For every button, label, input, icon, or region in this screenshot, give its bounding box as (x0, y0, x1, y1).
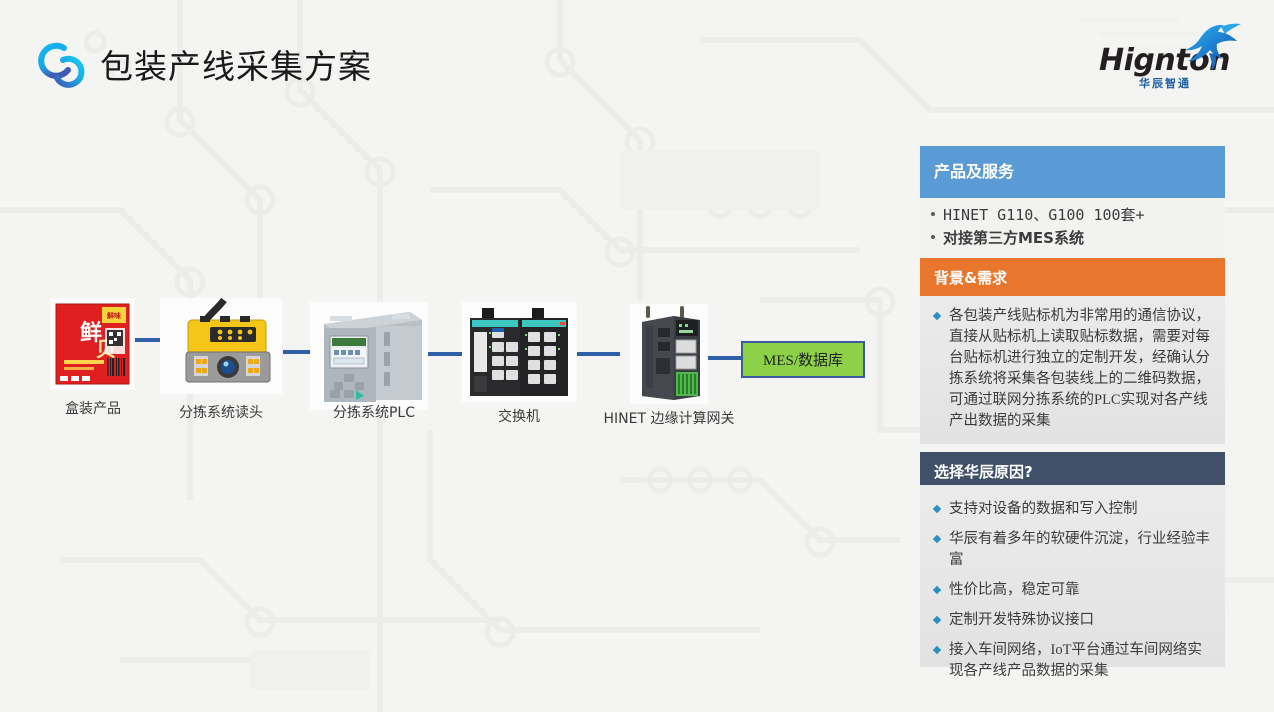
leaping-antelope-icon (1171, 23, 1245, 75)
architecture-diagram: 鲜味 鲜 贝 盒装产品 (0, 120, 900, 460)
brand-logo: Hignton 华辰智通 (1099, 25, 1239, 93)
page-title: 包装产线采集方案 (100, 40, 372, 88)
list-item-text: 性价比高，稳定可靠 (949, 580, 1215, 601)
connector-switch-to-gateway (574, 352, 620, 356)
node-sorting-plc: 分拣系统PLC (310, 302, 428, 410)
bullet-diamond-icon (933, 535, 941, 543)
list-item: 各包装产线贴标机为非常用的通信协议，直接从贴标机上读取贴标数据，需要对每台贴标机… (930, 306, 1215, 432)
bullet-dot-icon (931, 212, 935, 216)
connector-plc-to-switch (424, 352, 466, 356)
list-item-text: HINET G110、G100 100套+ (943, 204, 1145, 227)
connector-gateway-to-mes (704, 356, 746, 360)
panel-body: HINET G110、G100 100套+ 对接第三方MES系统 (920, 198, 1225, 256)
bullet-diamond-icon (933, 505, 941, 513)
bullet-diamond-icon (933, 616, 941, 624)
list-item-text: 各包装产线贴标机为非常用的通信协议，直接从贴标机上读取贴标数据，需要对每台贴标机… (949, 306, 1215, 432)
panel-background-requirements: 背景&需求 各包装产线贴标机为非常用的通信协议，直接从贴标机上读取贴标数据，需要… (920, 258, 1225, 444)
list-item: 性价比高，稳定可靠 (930, 580, 1215, 601)
bullet-diamond-icon (933, 646, 941, 654)
hignton-circles-icon (33, 38, 91, 94)
panel-products-services: 产品及服务 HINET G110、G100 100套+ 对接第三方MES系统 (920, 146, 1225, 256)
mes-database-box: MES/数据库 (741, 341, 865, 378)
list-item: 定制开发特殊协议接口 (930, 610, 1215, 631)
panel-title: 产品及服务 (920, 146, 1225, 198)
list-item-text: 华辰有着多年的软硬件沉淀，行业经验丰富 (949, 529, 1215, 571)
node-label: HINET 边缘计算网关 (559, 408, 779, 428)
brand-sub: 华辰智通 (1139, 75, 1191, 91)
bullet-diamond-icon (933, 586, 941, 594)
list-item: 支持对设备的数据和写入控制 (930, 499, 1215, 520)
bullet-dot-icon (931, 235, 935, 239)
bullet-diamond-icon (933, 312, 941, 320)
list-item-text: 接入车间网络，IoT平台通过车间网络实现各产线产品数据的采集 (949, 640, 1215, 682)
list-item: 对接第三方MES系统 (928, 227, 1215, 250)
list-item-text: 支持对设备的数据和写入控制 (949, 499, 1215, 520)
slide-header: 包装产线采集方案 Hignton 华辰智通 (0, 0, 1274, 120)
list-item: 接入车间网络，IoT平台通过车间网络实现各产线产品数据的采集 (930, 640, 1215, 682)
side-panels: 产品及服务 HINET G110、G100 100套+ 对接第三方MES系统 背… (920, 146, 1225, 667)
list-item: HINET G110、G100 100套+ (928, 204, 1215, 227)
node-barcode-reader: 分拣系统读头 (160, 298, 282, 394)
node-boxed-product: 鲜味 鲜 贝 盒装产品 (50, 298, 135, 390)
panel-why-hignton: 选择华辰原因? 支持对设备的数据和写入控制 华辰有着多年的软硬件沉淀，行业经验丰… (920, 452, 1225, 667)
list-item-text: 定制开发特殊协议接口 (949, 610, 1215, 631)
svg-text:鲜味: 鲜味 (107, 311, 121, 320)
panel-body: 支持对设备的数据和写入控制 华辰有着多年的软硬件沉淀，行业经验丰富 性价比高，稳… (920, 485, 1225, 667)
list-item: 华辰有着多年的软硬件沉淀，行业经验丰富 (930, 529, 1215, 571)
panel-body: 各包装产线贴标机为非常用的通信协议，直接从贴标机上读取贴标数据，需要对每台贴标机… (920, 296, 1225, 444)
node-edge-gateway: HINET 边缘计算网关 (630, 304, 708, 404)
list-item-text: 对接第三方MES系统 (943, 227, 1084, 250)
panel-title: 选择华辰原因? (920, 452, 1225, 485)
node-ethernet-switch: 交换机 (462, 302, 577, 402)
panel-title: 背景&需求 (920, 258, 1225, 296)
